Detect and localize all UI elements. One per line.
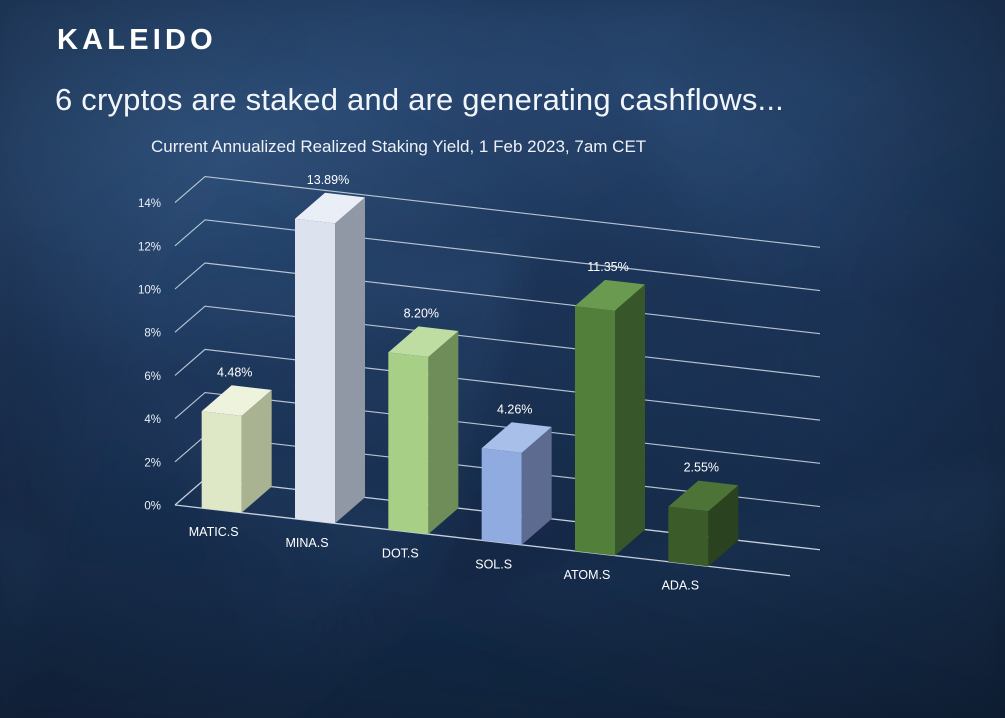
bar-front-face bbox=[482, 448, 522, 545]
category-label: MINA.S bbox=[285, 536, 328, 550]
bar-value-label: 8.20% bbox=[404, 306, 439, 320]
gridline bbox=[175, 177, 820, 248]
gridline bbox=[175, 306, 820, 377]
bar-value-label: 13.89% bbox=[307, 173, 349, 187]
bar-value-label: 11.35% bbox=[587, 260, 628, 274]
y-axis-tick-label: 12% bbox=[138, 241, 161, 253]
y-axis-tick-label: 6% bbox=[144, 371, 161, 383]
bar-value-label: 2.55% bbox=[684, 461, 719, 475]
bar-front-face bbox=[388, 352, 428, 534]
gridline bbox=[175, 220, 820, 291]
page-title: 6 cryptos are staked and are generating … bbox=[55, 82, 784, 118]
slide-root: KALEIDO 6 cryptos are staked and are gen… bbox=[0, 0, 1005, 718]
y-axis-tick-label: 14% bbox=[138, 198, 161, 210]
bar-front-face bbox=[668, 507, 708, 567]
bar-atom-s[interactable] bbox=[575, 280, 645, 556]
category-label: ATOM.S bbox=[564, 568, 611, 582]
y-axis-tick-label: 4% bbox=[144, 414, 161, 426]
gridline bbox=[175, 263, 820, 334]
y-axis-tick-label: 8% bbox=[144, 328, 161, 340]
brand-logo: KALEIDO bbox=[57, 24, 217, 57]
bar-front-face bbox=[575, 306, 615, 556]
category-label: ADA.S bbox=[662, 579, 700, 593]
bar-side-face bbox=[615, 284, 645, 555]
bar-sol-s[interactable] bbox=[482, 422, 552, 545]
y-axis-tick-label: 0% bbox=[144, 501, 161, 513]
y-axis-tick-label: 10% bbox=[138, 285, 161, 297]
category-label: SOL.S bbox=[475, 557, 512, 571]
category-label: MATIC.S bbox=[189, 525, 239, 539]
bar-ada-s[interactable] bbox=[668, 481, 738, 567]
bar-side-face bbox=[335, 197, 365, 523]
bar-matic-s[interactable] bbox=[202, 385, 272, 512]
chart-subtitle: Current Annualized Realized Staking Yiel… bbox=[151, 137, 646, 157]
y-axis-tick-label: 2% bbox=[144, 457, 161, 469]
chart-y-axis-labels: 0%2%4%6%8%10%12%14% bbox=[138, 198, 161, 512]
bar-value-label: 4.26% bbox=[497, 402, 532, 416]
bar-dot-s[interactable] bbox=[388, 326, 458, 534]
bar-side-face bbox=[428, 331, 458, 534]
bar-front-face bbox=[202, 411, 242, 512]
staking-yield-bar-chart: 0%2%4%6%8%10%12%14% 4.48%13.89%8.20%4.26… bbox=[0, 160, 1005, 620]
bar-value-label: 4.48% bbox=[217, 365, 252, 379]
bar-front-face bbox=[295, 219, 335, 524]
category-label: DOT.S bbox=[382, 547, 419, 561]
bar-mina-s[interactable] bbox=[295, 193, 365, 524]
